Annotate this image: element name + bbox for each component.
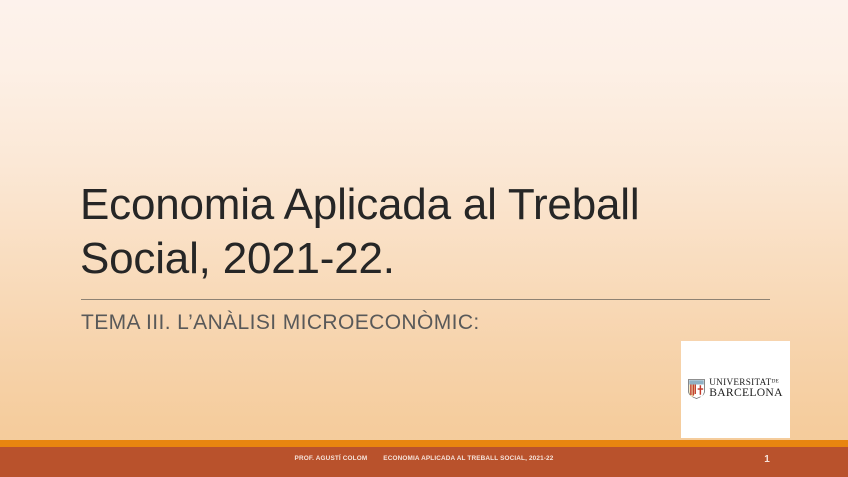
logo-wordmark: UNIVERSITATDE BARCELONA <box>709 378 783 399</box>
footer-text: PROF. AGUSTÍ COLOMECONOMIA APLICADA AL T… <box>0 455 848 462</box>
footer-course: ECONOMIA APLICADA AL TREBALL SOCIAL, 202… <box>383 455 553 462</box>
page-number: 1 <box>752 454 782 465</box>
slide-subtitle: TEMA III. L’ANÀLISI MICROECONÒMIC: <box>81 311 771 335</box>
barcelona-coat-of-arms-icon <box>688 379 705 399</box>
footer-author: PROF. AGUSTÍ COLOM <box>295 455 368 462</box>
logo-line-2: BARCELONA <box>709 387 783 399</box>
logo-line-1-suffix: DE <box>772 378 779 384</box>
title-divider <box>81 299 770 300</box>
accent-stripe <box>0 440 848 447</box>
presentation-slide: Economia Aplicada al Treball Social, 202… <box>0 0 848 477</box>
page-title: Economia Aplicada al Treball Social, 202… <box>80 178 780 286</box>
logo-inner: UNIVERSITATDE BARCELONA <box>688 378 783 399</box>
university-logo: UNIVERSITATDE BARCELONA <box>681 341 790 438</box>
footer-bar <box>0 447 848 477</box>
title-block: Economia Aplicada al Treball Social, 202… <box>80 178 780 286</box>
